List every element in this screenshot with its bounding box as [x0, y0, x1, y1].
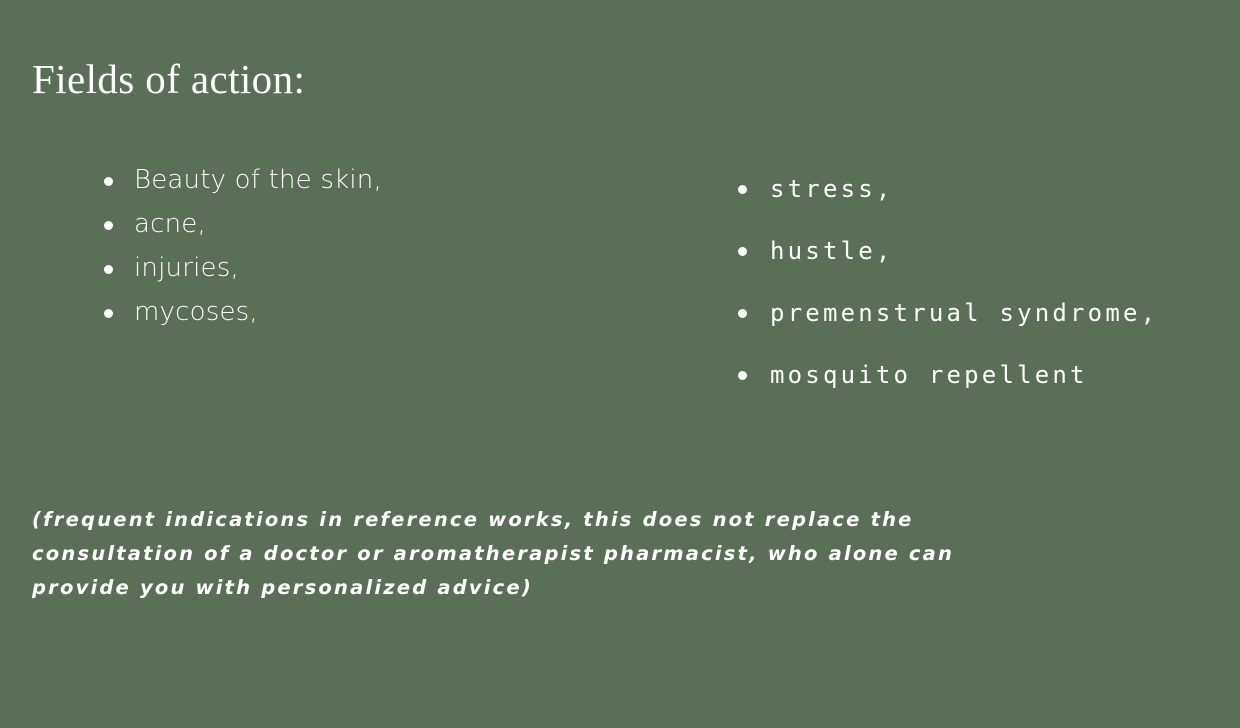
list-item-label: premenstrual syndrome,	[770, 299, 1158, 327]
bullet-dot-icon	[104, 177, 113, 186]
list-item: stress,	[730, 158, 1230, 220]
list-item: Beauty of the skin,	[96, 158, 656, 202]
list-item-label: acne,	[134, 209, 206, 239]
fields-list-right: stress, hustle, premenstrual syndrome, m…	[730, 158, 1230, 406]
list-item-label: stress,	[770, 175, 894, 203]
disclaimer-note: (frequent indications in reference works…	[32, 503, 1202, 605]
fields-of-action-columns: Beauty of the skin, acne, injuries, myco…	[0, 158, 1240, 408]
list-item-label: Beauty of the skin,	[134, 165, 382, 195]
bullet-dot-icon	[738, 185, 747, 194]
disclaimer-line: provide you with personalized advice)	[32, 571, 1202, 605]
list-item: hustle,	[730, 220, 1230, 282]
bullet-dot-icon	[738, 309, 747, 318]
list-item-label: mosquito repellent	[770, 361, 1088, 389]
list-item: mosquito repellent	[730, 344, 1230, 406]
page-title: Fields of action:	[32, 55, 305, 103]
slide-canvas: Fields of action: Beauty of the skin, ac…	[0, 0, 1240, 728]
list-item: premenstrual syndrome,	[730, 282, 1230, 344]
list-item: mycoses,	[96, 290, 656, 334]
list-item: injuries,	[96, 246, 656, 290]
bullet-dot-icon	[738, 371, 747, 380]
disclaimer-line: (frequent indications in reference works…	[32, 503, 1202, 537]
bullet-dot-icon	[104, 221, 113, 230]
list-item: acne,	[96, 202, 656, 246]
fields-list-left: Beauty of the skin, acne, injuries, myco…	[96, 158, 656, 334]
bullet-dot-icon	[104, 265, 113, 274]
list-item-label: injuries,	[134, 253, 239, 283]
bullet-dot-icon	[738, 247, 747, 256]
list-item-label: mycoses,	[134, 297, 258, 327]
disclaimer-line: consultation of a doctor or aromatherapi…	[32, 537, 1202, 571]
bullet-dot-icon	[104, 309, 113, 318]
list-item-label: hustle,	[770, 237, 894, 265]
